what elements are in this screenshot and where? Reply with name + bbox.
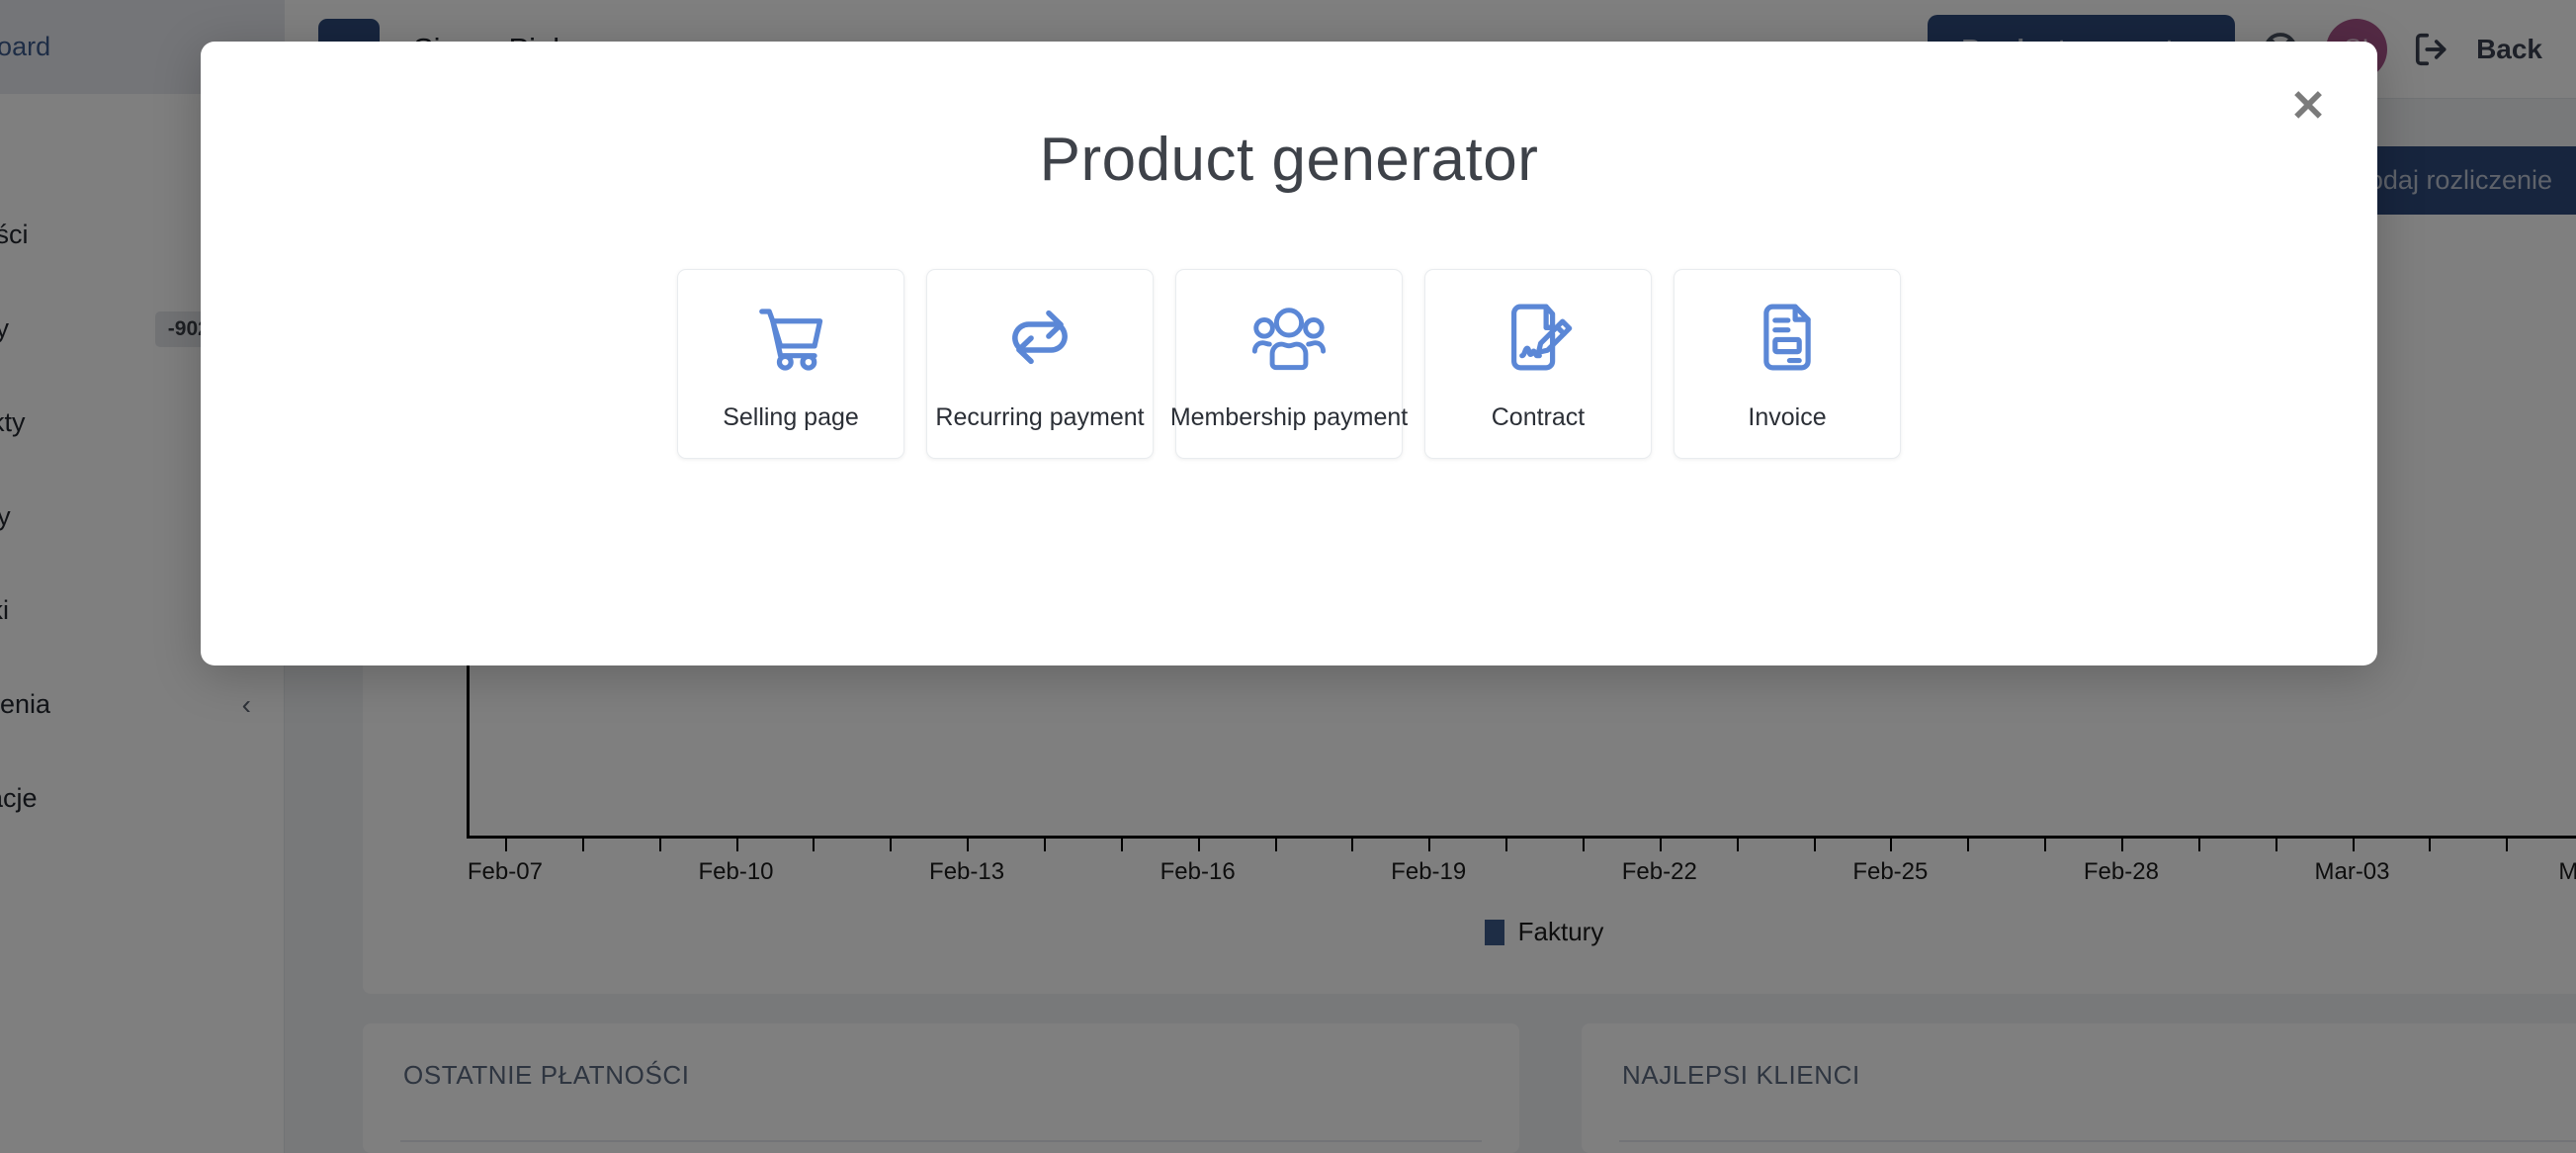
product-card-recurring-payment[interactable]: Recurring payment — [926, 269, 1154, 459]
product-card-selling-page[interactable]: Selling page — [677, 269, 904, 459]
people-group-icon — [1249, 297, 1329, 378]
product-card-membership-payment[interactable]: Membership payment — [1175, 269, 1403, 459]
product-type-card-grid: Selling page Recurring payment — [201, 269, 2377, 459]
product-card-invoice[interactable]: Invoice — [1674, 269, 1901, 459]
product-generator-modal: ✕ Product generator Selling page — [201, 42, 2377, 665]
page-title: Product generator — [201, 125, 2377, 195]
product-card-label: Membership payment — [1170, 403, 1408, 432]
product-card-label: Recurring payment — [935, 403, 1144, 432]
shopping-cart-icon — [752, 297, 829, 378]
product-card-label: Selling page — [723, 403, 859, 432]
product-card-contract[interactable]: Contract — [1424, 269, 1652, 459]
document-signature-pencil-icon — [1500, 297, 1577, 378]
product-card-label: Invoice — [1748, 403, 1826, 432]
invoice-document-icon — [1749, 297, 1826, 378]
product-card-label: Contract — [1492, 403, 1585, 432]
repeat-arrows-icon — [1001, 297, 1078, 378]
close-icon[interactable]: ✕ — [2280, 79, 2336, 134]
